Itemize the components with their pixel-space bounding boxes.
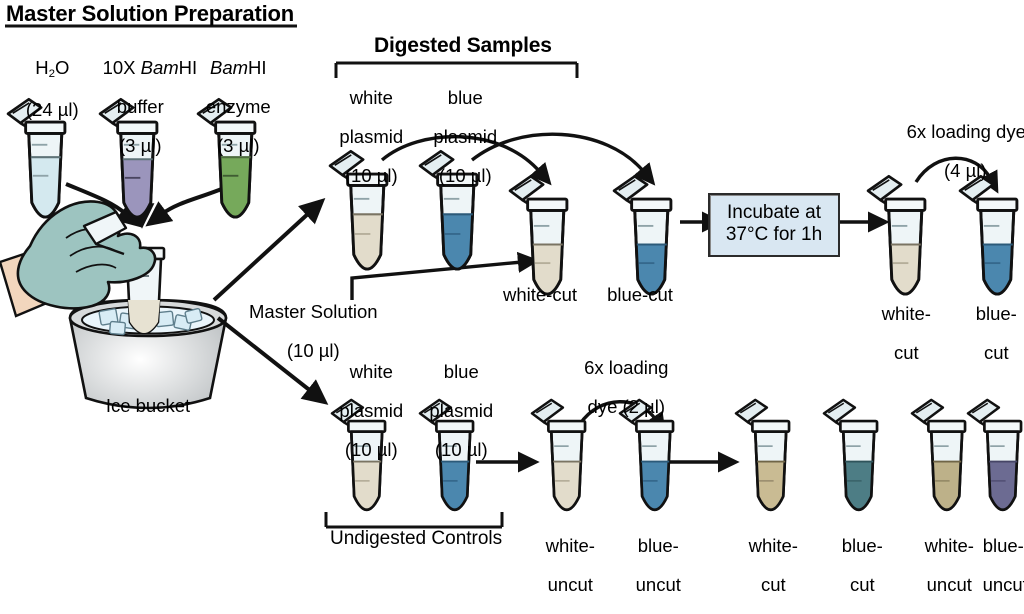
control-input-label-blue: blue plasmid (10 µl) [408, 342, 494, 479]
page-title: Master Solution Preparation [6, 1, 294, 27]
reagent-label-enzyme: BamHI enzyme (3 µl) [182, 38, 274, 175]
control-white-l3: (10 µl) [345, 439, 398, 460]
label-blue-uncut: blue- uncut [610, 516, 686, 614]
ice-bucket-label: Ice bucket [74, 396, 222, 416]
label-white-cut: white-cut [494, 285, 586, 305]
tube-gel-blue-cut [822, 396, 880, 531]
dye-bottom-line2: dye (2 µl) [588, 396, 666, 417]
digested-white-l2: plasmid [339, 126, 403, 147]
reagent-label-water: H2O (24 µl) [4, 38, 80, 139]
digested-blue-l3: (10 µl) [439, 165, 492, 186]
label-white-cut-final: white- cut [856, 284, 936, 382]
final-blue-l2: cut [984, 342, 1009, 363]
reagent-enzyme-volume: (3 µl) [217, 135, 260, 156]
reagent-enzyme-line2: enzyme [206, 96, 271, 117]
tube-gel-white-uncut [910, 396, 968, 531]
control-blue-l1: blue [444, 361, 479, 382]
gel-label-white-cut: white- cut [724, 516, 802, 614]
protocol-diagram: Master Solution Preparation H2O (24 µl) … [0, 0, 1024, 559]
reagent-water-volume: (24 µl) [26, 99, 79, 120]
tube-gel-blue-uncut [966, 396, 1024, 531]
dye-bottom-line1: 6x loading [584, 357, 668, 378]
reagent-enzyme-name: BamHI [210, 57, 267, 78]
uncut-blue-l1: blue- [638, 535, 679, 556]
final-blue-l1: blue- [976, 303, 1017, 324]
dye-top-line1: 6x loading dye [907, 121, 1024, 142]
reagent-buffer-line2: buffer [117, 96, 164, 117]
gel-3-l2: uncut [983, 574, 1024, 595]
undigested-controls-bracket-label: Undigested Controls [330, 529, 500, 549]
reagent-buffer-volume: (3 µl) [119, 135, 162, 156]
control-blue-l3: (10 µl) [435, 439, 488, 460]
label-blue-cut-final: blue- cut [950, 284, 1022, 382]
reagent-label-buffer: 10X BamHI buffer (3 µl) [82, 38, 178, 175]
label-white-uncut: white- uncut [520, 516, 600, 614]
uncut-blue-l2: uncut [636, 574, 681, 595]
incubate-line2: 37°C for 1h [726, 224, 822, 245]
gel-label-blue-cut: blue- cut [816, 516, 888, 614]
incubate-line1: Incubate at [727, 202, 821, 223]
control-input-label-white: white plasmid (10 µl) [318, 342, 404, 479]
reagent-water-name: H2O [35, 57, 69, 78]
gel-label-blue-uncut: blue- uncut [962, 516, 1024, 614]
digested-white-l1: white [350, 87, 393, 108]
digested-blue-l1: blue [448, 87, 483, 108]
gel-0-l1: white- [749, 535, 798, 556]
gel-1-l1: blue- [842, 535, 883, 556]
gel-3-l1: blue- [983, 535, 1024, 556]
dye-top-line2: (4 µl) [944, 160, 987, 181]
control-white-l2: plasmid [339, 400, 403, 421]
digested-white-l3: (10 µl) [345, 165, 398, 186]
digested-input-label-blue: blue plasmid (10 µl) [412, 68, 498, 205]
digested-input-label-white: white plasmid (10 µl) [318, 68, 404, 205]
digested-blue-l2: plasmid [433, 126, 497, 147]
master-solution-line1: Master Solution [249, 301, 378, 322]
uncut-white-l1: white- [546, 535, 595, 556]
tube-gel-white-cut [734, 396, 792, 531]
control-blue-l2: plasmid [429, 400, 493, 421]
uncut-white-l2: uncut [548, 574, 593, 595]
digested-samples-title: Digested Samples [374, 34, 552, 58]
label-blue-cut: blue-cut [594, 285, 686, 305]
loading-dye-label-top: 6x loading dye (4 µl) [886, 102, 1024, 200]
incubate-step-box: Incubate at 37°C for 1h [708, 193, 840, 257]
final-white-l1: white- [882, 303, 931, 324]
gel-1-l2: cut [850, 574, 875, 595]
loading-dye-label-bottom: 6x loading dye (2 µl) [548, 338, 684, 436]
control-white-l1: white [350, 361, 393, 382]
gel-0-l2: cut [761, 574, 786, 595]
final-white-l2: cut [894, 342, 919, 363]
